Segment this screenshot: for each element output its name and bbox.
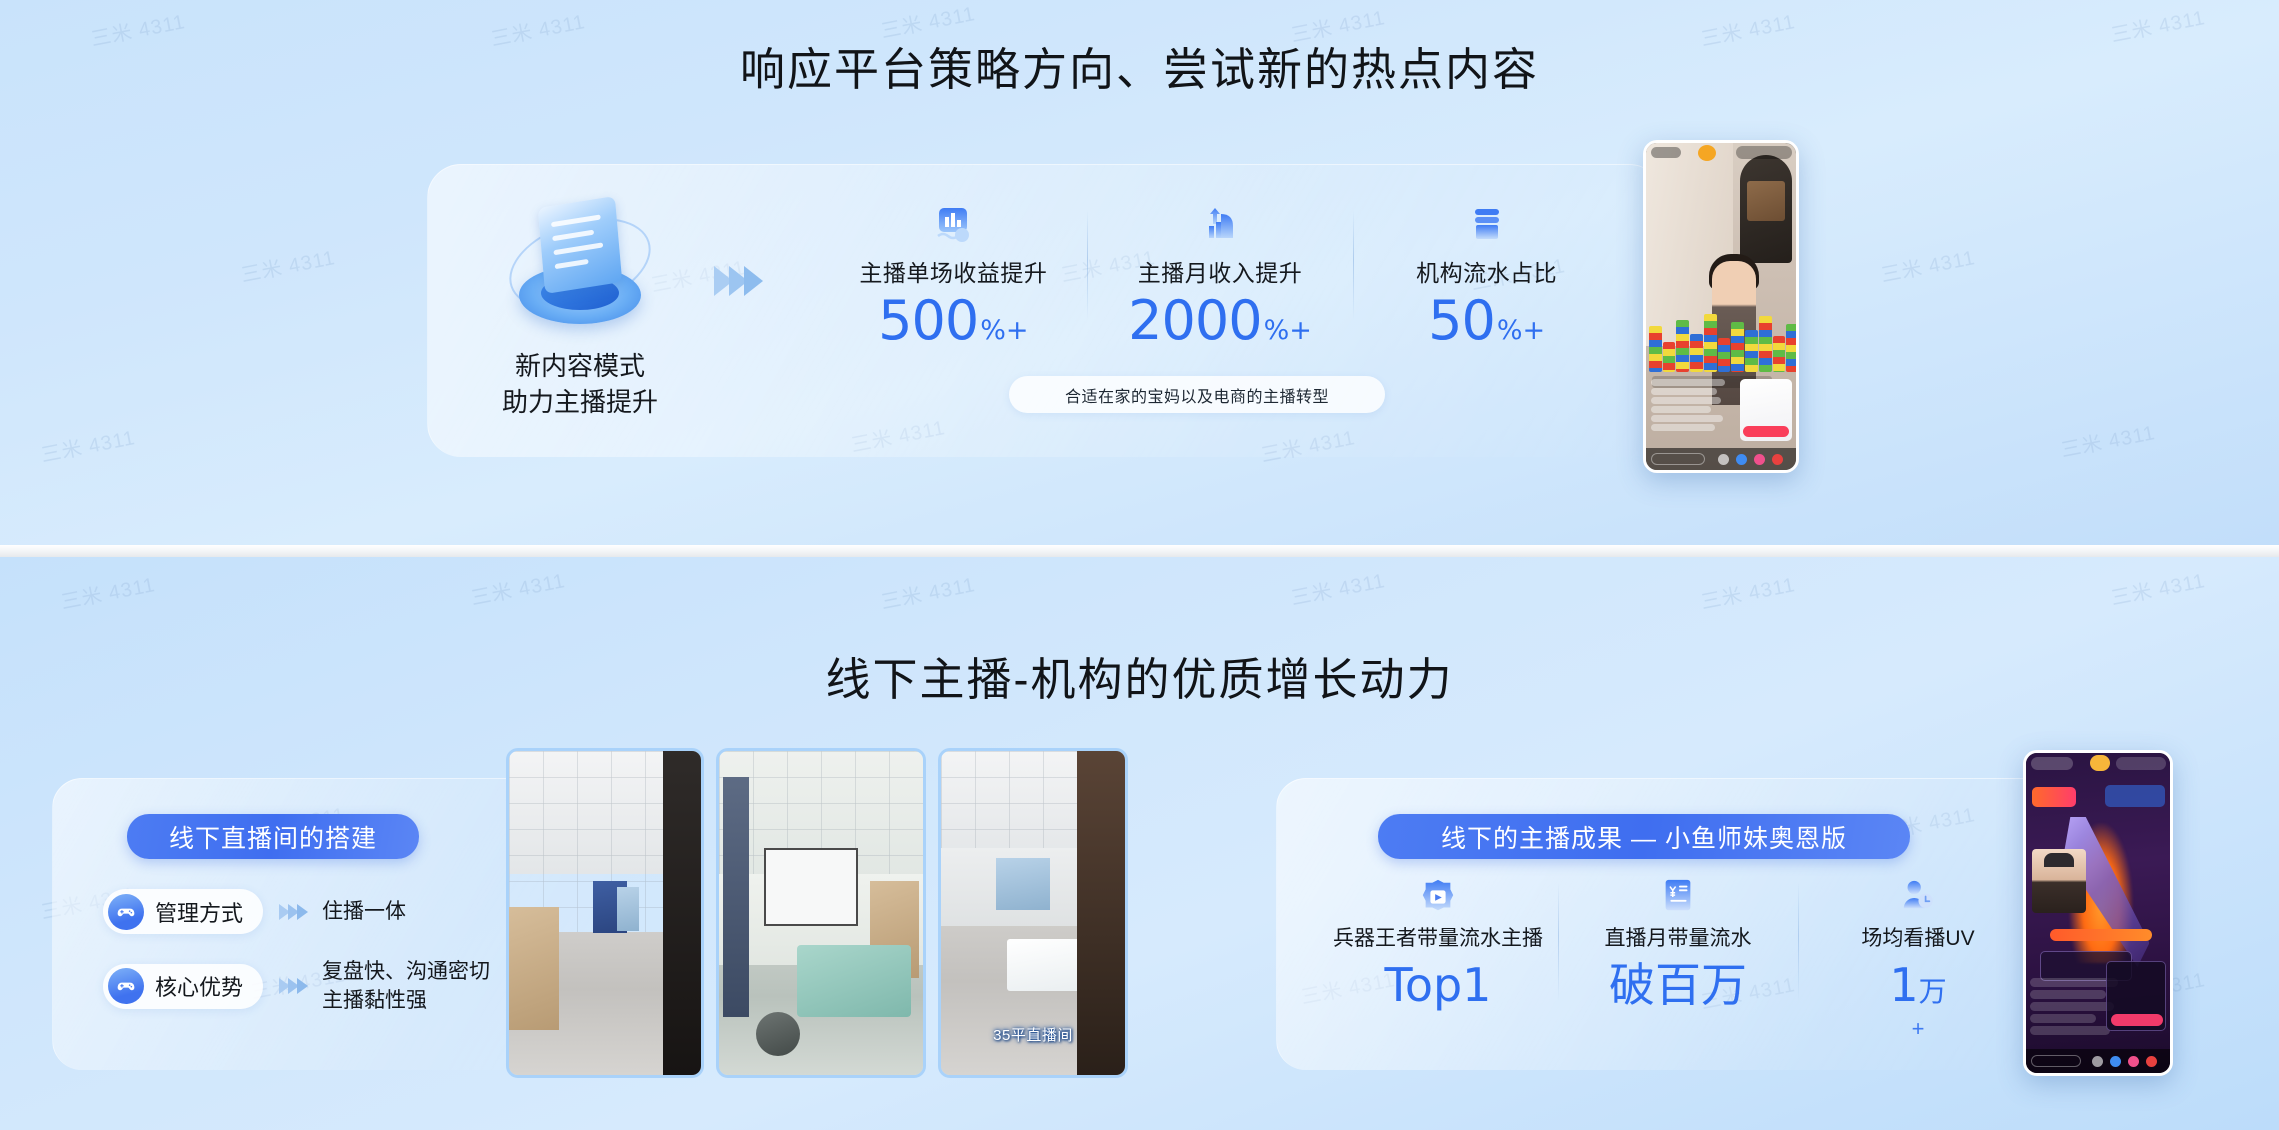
room-photo-bedroom <box>716 748 926 1078</box>
gamepad-icon <box>108 894 144 930</box>
document-device-3d-icon <box>505 200 655 332</box>
section-bottom-title: 线下主播-机构的优质增长动力 <box>0 643 2279 708</box>
stat-label: 机构流水占比 <box>1353 254 1620 288</box>
slide-page: 三米 4311 三米 4311 三米 4311 三米 4311 三米 4311 … <box>0 0 2279 1130</box>
stat-value: 1万 <box>1798 962 2038 1008</box>
room-photo-hallway <box>506 748 704 1078</box>
stat-card: 兵器王者带量流水主播 Top1 <box>1318 872 1558 1042</box>
note-pill: 合适在家的宝妈以及电商的主播转型 <box>1009 376 1385 413</box>
watermark: 三米 4311 <box>58 568 157 615</box>
stat-card: 场均看播UV 1万 + <box>1798 872 2038 1042</box>
top-stats-row: 主播单场收益提升 500%+ 主播月收入提升 <box>820 196 1620 348</box>
gamepad-icon <box>108 968 144 1004</box>
bar-chart-icon <box>820 196 1087 246</box>
watermark: 三米 4311 <box>38 421 137 468</box>
stat-label: 直播月带量流水 <box>1558 922 1798 952</box>
stat-label: 主播单场收益提升 <box>820 254 1087 288</box>
stat-value: 破百万 <box>1558 962 1798 1008</box>
watermark: 三米 4311 <box>468 564 567 611</box>
growth-arrow-icon <box>1087 196 1354 246</box>
room-photo-studio: 35平直播间 <box>938 748 1128 1078</box>
list-item: 核心优势 复盘快、沟通密切 主播黏性强 <box>103 957 490 1015</box>
stat-label: 兵器王者带量流水主播 <box>1318 922 1558 952</box>
stat-card: 主播单场收益提升 500%+ <box>820 196 1087 348</box>
new-content-mode-block: 新内容模式 助力主播提升 <box>470 200 690 420</box>
section-top: 三米 4311 三米 4311 三米 4311 三米 4311 三米 4311 … <box>0 0 2279 545</box>
stacked-layers-icon <box>1353 196 1620 246</box>
watermark: 三米 4311 <box>1698 568 1797 615</box>
section-top-title: 响应平台策略方向、尝试新的热点内容 <box>0 33 2279 98</box>
watermark: 三米 4311 <box>2058 416 2157 463</box>
user-clock-icon <box>1798 872 2038 916</box>
watermark: 三米 4311 <box>1878 241 1977 288</box>
kv-value: 住播一体 <box>322 897 406 926</box>
store-video-icon <box>1318 872 1558 916</box>
live-stream-phone-preview <box>1643 140 1799 473</box>
watermark: 三米 4311 <box>1288 564 1387 611</box>
watermark: 三米 4311 <box>2108 564 2207 611</box>
kv-key: 管理方式 <box>155 896 243 928</box>
stat-value: 50%+ <box>1353 294 1620 348</box>
stat-label: 主播月收入提升 <box>1087 254 1354 288</box>
triple-chevron-right-icon <box>281 978 308 994</box>
stat-card: 主播月收入提升 2000%+ <box>1087 196 1354 348</box>
stat-value: 500%+ <box>820 294 1087 348</box>
bottom-stats-row: 兵器王者带量流水主播 Top1 直播月带量流水 破百万 <box>1318 872 2038 1042</box>
stat-value: 2000%+ <box>1087 294 1354 348</box>
stat-card: 直播月带量流水 破百万 <box>1558 872 1798 1042</box>
watermark: 三米 4311 <box>878 568 977 615</box>
illustration-label: 新内容模式 助力主播提升 <box>470 348 690 420</box>
triple-chevron-right-icon <box>281 904 308 920</box>
game-stream-phone-preview <box>2023 750 2173 1076</box>
kv-chip: 管理方式 <box>103 889 263 934</box>
stat-plus: + <box>1798 1016 2038 1042</box>
kv-value: 复盘快、沟通密切 主播黏性强 <box>322 957 490 1015</box>
photo-caption: 35平直播间 <box>993 1024 1073 1045</box>
kv-chip: 核心优势 <box>103 964 263 1009</box>
watermark: 三米 4311 <box>238 241 337 288</box>
invoice-icon <box>1558 872 1798 916</box>
anchor-results-badge: 线下的主播成果 — 小鱼师妹奥恩版 <box>1378 814 1910 859</box>
stat-label: 场均看播UV <box>1798 922 2038 952</box>
list-item: 管理方式 住播一体 <box>103 889 406 934</box>
kv-key: 核心优势 <box>155 970 243 1002</box>
stat-card: 机构流水占比 50%+ <box>1353 196 1620 348</box>
offline-studio-badge: 线下直播间的搭建 <box>127 814 419 859</box>
stat-value: Top1 <box>1318 962 1558 1008</box>
triple-chevron-right-icon <box>718 266 763 296</box>
section-divider <box>0 545 2279 557</box>
